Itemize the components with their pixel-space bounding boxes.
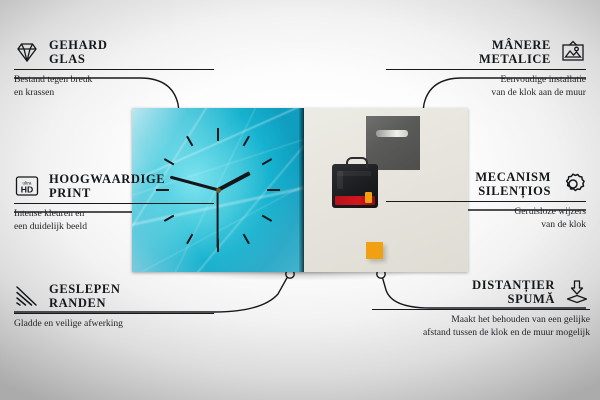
feature-title: MÂNEREMETALICE (479, 38, 551, 66)
hanger-keyhole (376, 130, 408, 137)
divider (386, 201, 586, 202)
feature-geslepen-randen: GESLEPENRANDEN Gladde en veilige afwerki… (14, 282, 224, 331)
feature-title: MECANISMSILENȚIOS (475, 170, 551, 198)
feature-manere-metalice: MÂNEREMETALICE Eenvoudige installatievan… (376, 38, 586, 99)
divider (386, 69, 586, 70)
clock-mechanism (332, 164, 378, 208)
bevelled-edge-icon (14, 283, 40, 309)
gear-icon (560, 171, 586, 197)
svg-text:HD: HD (21, 184, 33, 194)
feature-gehard-glas: GEHARDGLAS Bestand tegen breuken krassen (14, 38, 224, 99)
spacer-arrow-icon (564, 279, 590, 305)
feature-mecanism-silentios: MECANISMSILENȚIOS Geruisloze wijzersvan … (376, 170, 586, 231)
feature-title: GESLEPENRANDEN (49, 282, 121, 310)
clock-tick (218, 189, 280, 191)
foam-spacer (366, 242, 383, 259)
feature-description: Geruisloze wijzersvan de klok (376, 206, 586, 231)
picture-hanger-icon (560, 39, 586, 65)
feature-description: Gladde en veilige afwerking (14, 318, 224, 330)
mechanism-battery-label (335, 196, 375, 205)
ultra-hd-icon: ultra HD (14, 173, 40, 199)
mechanism-hanging-loop (346, 157, 368, 168)
feature-distantier-spuma: DISTANȚIERSPUMĂ Maakt het behouden van e… (372, 278, 590, 339)
feature-description: Maakt het behouden van een gelijkeafstan… (372, 314, 590, 339)
feature-title: DISTANȚIERSPUMĂ (472, 278, 555, 306)
divider (14, 69, 214, 70)
feature-description: Intense kleuren eneen duidelijk beeld (14, 208, 224, 233)
infographic-canvas: GEHARDGLAS Bestand tegen breuken krassen… (0, 0, 600, 400)
divider (372, 309, 590, 310)
feature-title: HOOGWAARDIGEPRINT (49, 172, 165, 200)
feature-hoogwaardige-print: ultra HD HOOGWAARDIGEPRINT Intense kleur… (14, 172, 224, 233)
divider (14, 313, 214, 314)
feature-description: Bestand tegen breuken krassen (14, 74, 224, 99)
feature-description: Eenvoudige installatievan de klok aan de… (376, 74, 586, 99)
diamond-icon (14, 39, 40, 65)
mechanism-body (337, 171, 371, 189)
battery-plus-marker (365, 192, 372, 203)
metal-hanger-plate (366, 116, 420, 170)
feature-title: GEHARDGLAS (49, 38, 107, 66)
divider (14, 203, 214, 204)
